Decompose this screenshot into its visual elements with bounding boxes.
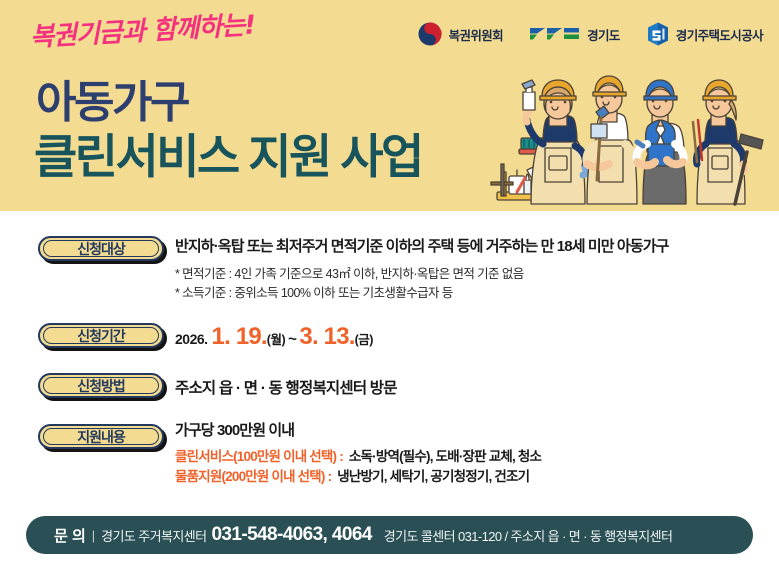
period-end-date: 3. 13. xyxy=(299,323,354,351)
period-start-date: 1. 19. xyxy=(208,323,267,351)
label-pill-support-text: 지원내용 xyxy=(77,430,125,444)
support-item-goods-value: 냉난방기, 세탁기, 공기청정기, 건조기 xyxy=(331,467,529,487)
target-note-area: * 면적기준 : 4인 가족 기준으로 43㎡ 이하, 반지하·옥탑은 면적 기… xyxy=(175,265,669,284)
period-start-day: (월) xyxy=(267,329,285,348)
contact-label: 문 의 xyxy=(54,525,86,546)
cleaning-workers-illustration xyxy=(479,52,779,211)
support-item-clean-service-value: 소독·방역(필수), 도배·장판 교체, 청소 xyxy=(343,447,541,467)
logo-lottery-commission: 복권위원회 xyxy=(417,21,504,47)
label-pill-method: 신청방법 xyxy=(38,373,164,398)
logo-label-gyeonggi: 경기도 xyxy=(587,25,620,44)
taegeuk-icon xyxy=(417,21,443,47)
section-support-body: 가구당 300만원 이내 클린서비스(100만원 이내 선택) : 소독·방역(… xyxy=(175,422,541,486)
application-period: 2026. 1. 19. (월) ~ 3. 13. (금) xyxy=(175,323,373,351)
gyeonggi-do-icon xyxy=(529,24,581,44)
contact-footer: 문 의 | 경기도 주거복지센터 031-548-4063, 4064 경기도 … xyxy=(26,516,753,554)
target-note-income: * 소득기준 : 중위소득 100% 이하 또는 기초생활수급자 등 xyxy=(175,284,669,303)
page-title-line1: 아동가구 xyxy=(36,81,188,125)
label-pill-target-text: 신청대상 xyxy=(77,242,125,256)
contact-org: 경기도 주거복지센터 xyxy=(101,526,206,545)
section-period-body: 2026. 1. 19. (월) ~ 3. 13. (금) xyxy=(175,323,373,351)
label-pill-method-text: 신청방법 xyxy=(77,379,125,393)
logo-gh-corporation: 경기주택도시공사 xyxy=(646,21,763,47)
support-item-clean-service: 클린서비스(100만원 이내 선택) : 소독·방역(필수), 도배·장판 교체… xyxy=(175,447,541,467)
support-item-goods: 물품지원(200만원 이내 선택) : 냉난방기, 세탁기, 공기청정기, 건조… xyxy=(175,467,541,487)
support-item-clean-service-key: 클린서비스(100만원 이내 선택) : xyxy=(175,447,343,467)
section-method-body: 주소지 읍 · 면 · 동 행정복지센터 방문 xyxy=(175,376,397,398)
label-pill-period-text: 신청기간 xyxy=(77,329,125,343)
period-separator: ~ xyxy=(285,331,299,348)
tagline: 복권기금과 함께하는! xyxy=(29,4,256,54)
page-title-line2: 클린서비스 지원 사업 xyxy=(34,133,422,180)
method-text: 주소지 읍 · 면 · 동 행정복지센터 방문 xyxy=(175,376,397,398)
period-end-day: (금) xyxy=(355,329,373,348)
contact-extra: 경기도 콜센터 031-120 / 주소지 읍 · 면 · 동 행정복지센터 xyxy=(372,526,673,545)
support-lead-text: 가구당 300만원 이내 xyxy=(175,422,541,440)
logo-row: 복권위원회 경기도 xyxy=(417,21,763,47)
poster-root: 복권위원회 경기도 xyxy=(0,0,779,564)
label-pill-target: 신청대상 xyxy=(38,236,164,261)
logo-label-lottery: 복권위원회 xyxy=(449,25,504,44)
label-pill-period: 신청기간 xyxy=(38,323,164,348)
target-lead-text: 반지하·옥탑 또는 최저주거 면적기준 이하의 주택 등에 거주하는 만 18세… xyxy=(175,238,669,256)
logo-label-gh: 경기주택도시공사 xyxy=(676,25,763,44)
period-year: 2026. xyxy=(175,331,208,347)
gh-corporation-icon xyxy=(646,21,670,47)
label-pill-support: 지원내용 xyxy=(38,424,164,449)
contact-phone: 031-548-4063, 4064 xyxy=(206,524,371,546)
logo-gyeonggi-do: 경기도 xyxy=(529,24,620,44)
poster-header: 복권위원회 경기도 xyxy=(0,0,779,211)
contact-divider: | xyxy=(86,528,101,543)
section-target-body: 반지하·옥탑 또는 최저주거 면적기준 이하의 주택 등에 거주하는 만 18세… xyxy=(175,238,669,304)
support-item-goods-key: 물품지원(200만원 이내 선택) : xyxy=(175,467,331,487)
